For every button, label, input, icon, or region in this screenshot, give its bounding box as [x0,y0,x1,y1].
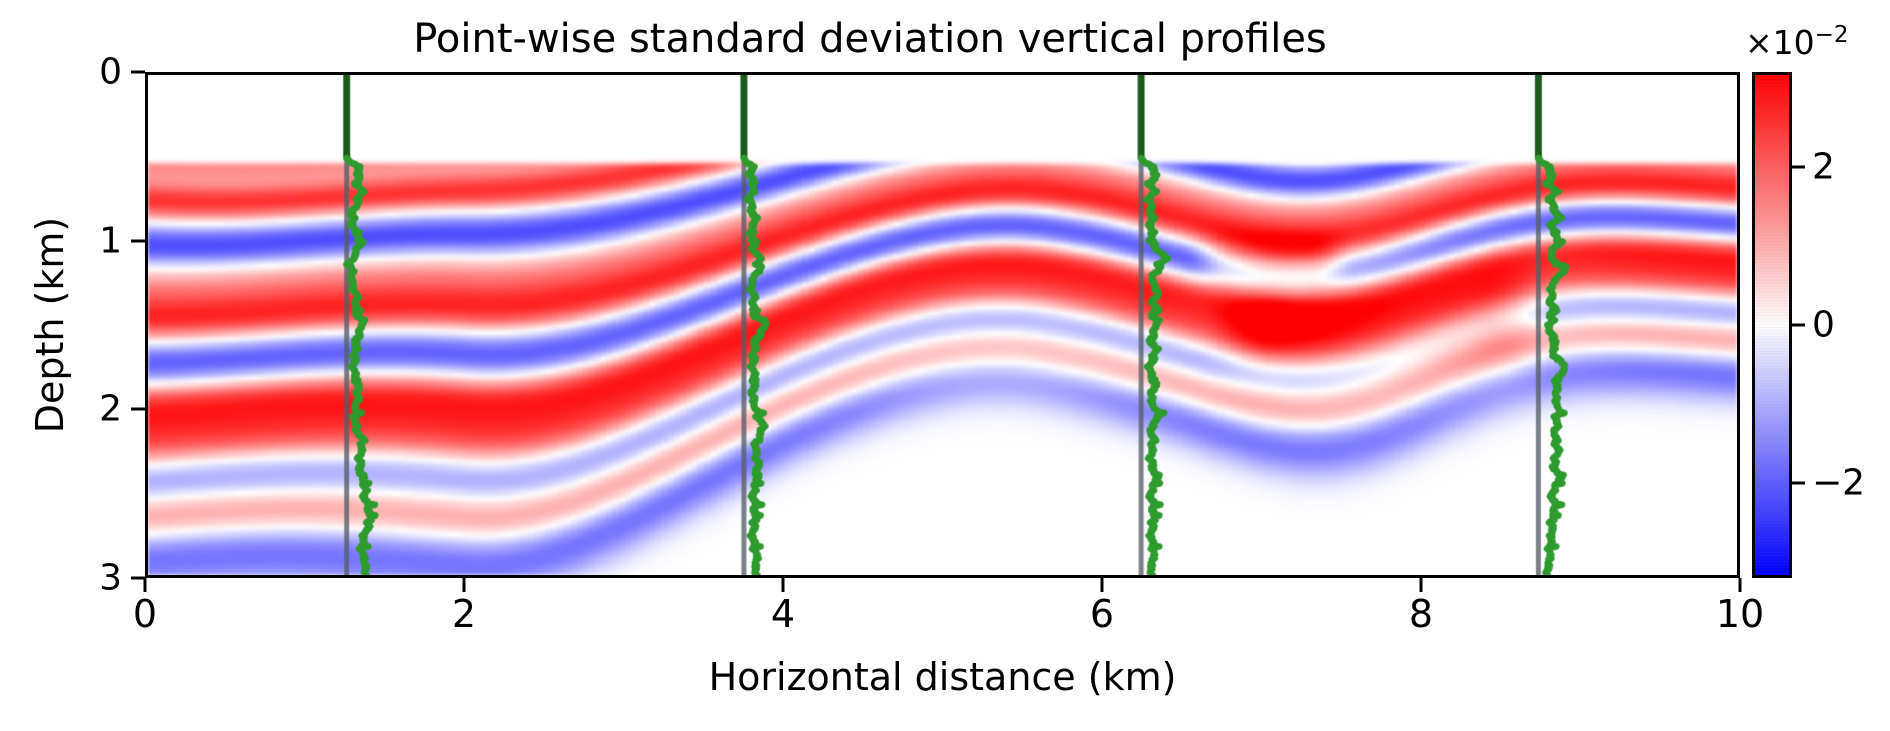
x-tick-mark [1420,578,1423,592]
velocity-perturbation-heatmap [148,75,1737,575]
x-tick-label: 10 [1716,592,1764,636]
y-tick-mark [131,408,145,411]
x-tick-mark [782,578,785,592]
page-title: Point-wise standard deviation vertical p… [0,16,1740,62]
heatmap-canvas-wrapper [148,75,1737,575]
figure-root: Point-wise standard deviation vertical p… [0,0,1890,731]
colorbar-tick-label: 2 [1812,146,1835,187]
colorbar-tick-label: 0 [1812,305,1835,346]
colorbar-tick-mark [1792,165,1805,168]
exponent-mantissa: ×10 [1745,23,1815,62]
x-axis-label: Horizontal distance (km) [145,655,1740,699]
colorbar-tick-mark [1792,324,1805,327]
y-tick-mark [131,71,145,74]
x-tick-label: 4 [771,592,795,636]
y-tick-mark [131,239,145,242]
x-tick-label: 2 [452,592,476,636]
x-tick-mark [463,578,466,592]
x-tick-label: 6 [1090,592,1114,636]
colorbar-tick-label: −2 [1812,463,1865,504]
x-tick-label: 8 [1409,592,1433,636]
y-tick-label: 0 [0,52,122,93]
x-tick-mark [144,578,147,592]
colorbar-gradient [1755,75,1789,575]
x-tick-mark [1101,578,1104,592]
x-tick-mark [1739,578,1742,592]
y-tick-label: 3 [0,558,122,599]
plot-axes [145,72,1740,578]
colorbar [1752,72,1792,578]
colorbar-tick-mark [1792,482,1805,485]
y-axis-label: Depth (km) [28,217,72,434]
exponent-power: −2 [1815,22,1849,48]
colorbar-exponent-label: ×10−2 [1745,22,1849,62]
x-tick-label: 0 [133,592,157,636]
